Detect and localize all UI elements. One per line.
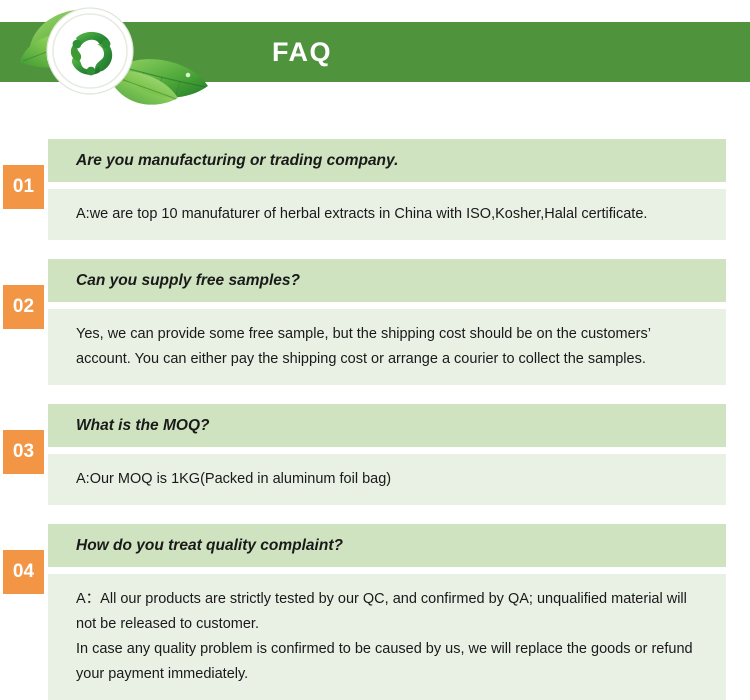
faq-item: 04 How do you treat quality complaint? A… — [0, 524, 750, 700]
faq-answer-line: A：All our products are strictly tested b… — [76, 587, 704, 637]
logo-graphic — [12, 0, 232, 118]
logo-circle-badge — [47, 8, 133, 94]
page-title: FAQ — [272, 22, 332, 82]
faq-divider — [0, 447, 750, 454]
faq-answer-line: A:Our MOQ is 1KG(Packed in aluminum foil… — [76, 467, 704, 492]
page-header: FAQ — [0, 0, 750, 120]
faq-answer: A：All our products are strictly tested b… — [48, 574, 726, 700]
leaf-recycle-logo — [12, 0, 232, 118]
faq-list: 01 Are you manufacturing or trading comp… — [0, 120, 750, 700]
faq-answer-line: In case any quality problem is confirmed… — [76, 637, 704, 687]
faq-answer-line: A:we are top 10 manufaturer of herbal ex… — [76, 202, 704, 227]
faq-divider — [0, 302, 750, 309]
faq-answer: A:Our MOQ is 1KG(Packed in aluminum foil… — [48, 454, 726, 505]
faq-number-badge: 04 — [3, 550, 44, 594]
faq-divider — [0, 182, 750, 189]
faq-divider — [0, 567, 750, 574]
faq-answer: A:we are top 10 manufaturer of herbal ex… — [48, 189, 726, 240]
faq-answer: Yes, we can provide some free sample, bu… — [48, 309, 726, 385]
faq-item: 02 Can you supply free samples? Yes, we … — [0, 259, 750, 385]
faq-number-badge: 03 — [3, 430, 44, 474]
faq-number-badge: 01 — [3, 165, 44, 209]
faq-answer-line: Yes, we can provide some free sample, bu… — [76, 322, 704, 372]
faq-item: 03 What is the MOQ? A:Our MOQ is 1KG(Pac… — [0, 404, 750, 505]
faq-item: 01 Are you manufacturing or trading comp… — [0, 139, 750, 240]
faq-question[interactable]: Can you supply free samples? — [48, 259, 726, 302]
faq-question[interactable]: What is the MOQ? — [48, 404, 726, 447]
faq-number-badge: 02 — [3, 285, 44, 329]
faq-question[interactable]: Are you manufacturing or trading company… — [48, 139, 726, 182]
faq-question[interactable]: How do you treat quality complaint? — [48, 524, 726, 567]
